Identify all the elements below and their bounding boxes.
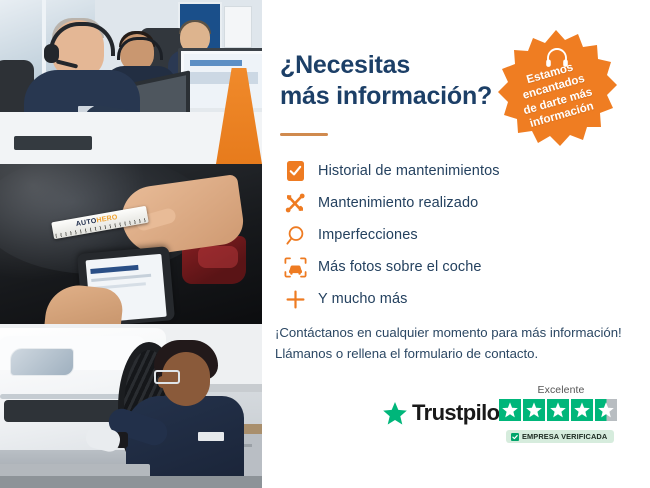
contact-paragraph-line2: Llámanos o rellena el formulario de cont… (275, 343, 635, 364)
page-title-line1: ¿Necesitas (280, 51, 410, 79)
trustpilot-wordmark: Trustpilot (408, 400, 506, 426)
mechanic-wheel-inspection-photo (0, 324, 262, 488)
trustpilot-widget[interactable]: Trustpilot Excelente EMPRESA VERIFICADA (382, 386, 632, 452)
star-3 (547, 399, 569, 421)
star-4 (571, 399, 593, 421)
star-2 (523, 399, 545, 421)
call-center-agents-photo (0, 0, 262, 164)
trustpilot-star-icon (382, 401, 408, 426)
feature-item-mantenimiento: Mantenimiento realizado (280, 187, 580, 219)
feature-list: Historial de mantenimientos M (280, 155, 580, 315)
feature-label: Historial de mantenimientos (310, 163, 500, 179)
feature-item-mas: Y mucho más (280, 283, 580, 315)
info-banner: AUTOHERO ¿Necesitas (0, 0, 650, 488)
contact-paragraph: ¡Contáctanos en cualquier momento para m… (275, 322, 635, 365)
verified-company-badge: EMPRESA VERIFICADA (506, 430, 614, 443)
title-divider (280, 133, 328, 136)
document-check-icon (280, 158, 310, 184)
star-5-half (595, 399, 617, 421)
verified-company-label: EMPRESA VERIFICADA (522, 432, 607, 441)
page-title: ¿Necesitas más información? (280, 50, 510, 111)
plus-icon (280, 286, 310, 312)
feature-label: Más fotos sobre el coche (310, 259, 482, 275)
trustpilot-stars (499, 399, 617, 421)
trustpilot-rating-label: Excelente (499, 384, 623, 396)
feature-label: Imperfecciones (310, 227, 418, 243)
trustpilot-logo: Trustpilot (382, 400, 506, 426)
feature-label: Y mucho más (310, 291, 407, 307)
feature-item-historial: Historial de mantenimientos (280, 155, 580, 187)
star-1 (499, 399, 521, 421)
promo-starburst-badge: Estamos encantados de darte más informac… (495, 28, 617, 150)
verified-check-icon (511, 433, 519, 441)
magnifier-icon (280, 222, 310, 248)
autohero-ruler-inspection-photo: AUTOHERO (0, 164, 262, 324)
content-panel: ¿Necesitas más información? Estamos enca… (262, 0, 650, 488)
photo-column: AUTOHERO (0, 0, 262, 488)
feature-label: Mantenimiento realizado (310, 195, 478, 211)
feature-item-fotos: Más fotos sobre el coche (280, 251, 580, 283)
page-title-line2: más información? (280, 82, 492, 110)
feature-item-imperfecciones: Imperfecciones (280, 219, 580, 251)
car-scan-icon (280, 254, 310, 280)
contact-paragraph-line1: ¡Contáctanos en cualquier momento para m… (275, 322, 635, 343)
tools-wrench-screwdriver-icon (280, 190, 310, 216)
